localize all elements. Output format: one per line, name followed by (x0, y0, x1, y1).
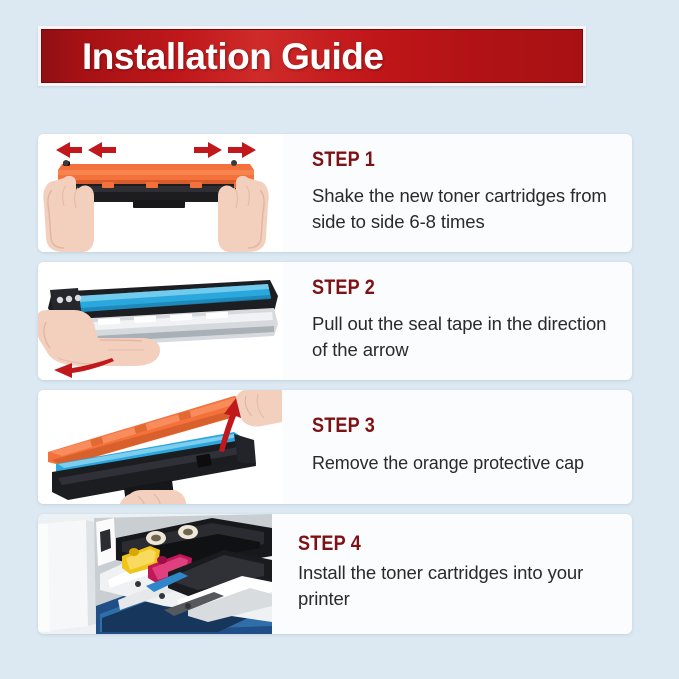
step-card-3: STEP 3 Remove the orange protective cap (38, 390, 632, 504)
left-hand (43, 176, 94, 252)
step-2-figure (38, 262, 282, 380)
step-4-text: Install the toner cartridges into your p… (298, 560, 608, 611)
step-4-label: STEP 4 (298, 532, 570, 555)
steps-list: STEP 1 Shake the new toner cartridges fr… (38, 134, 632, 634)
step-2-text: Pull out the seal tape in the direction … (312, 311, 614, 362)
remove-orange-cap-illustration (38, 390, 282, 504)
step-3-figure (38, 390, 282, 504)
step-3-body: STEP 3 Remove the orange protective cap (282, 390, 632, 504)
step-3-text: Remove the orange protective cap (312, 451, 614, 476)
step-2-body: STEP 2 Pull out the seal tape in the dir… (282, 262, 632, 380)
step-1-body: STEP 1 Shake the new toner cartridges fr… (282, 134, 632, 252)
step-card-2: STEP 2 Pull out the seal tape in the dir… (38, 262, 632, 380)
header-banner-gradient: Installation Guide (41, 29, 583, 83)
step-3-label: STEP 3 (312, 414, 572, 437)
step-1-figure (38, 134, 282, 252)
step-4-figure (38, 514, 272, 634)
printer-interior-illustration (38, 514, 272, 634)
header-banner: Installation Guide (38, 26, 586, 86)
step-1-text: Shake the new toner cartridges from side… (312, 183, 614, 234)
page-title: Installation Guide (42, 38, 383, 75)
right-hand (218, 176, 269, 252)
step-4-body: STEP 4 Install the toner cartridges into… (272, 514, 632, 634)
step-2-label: STEP 2 (312, 276, 572, 299)
shake-toner-cartridge-illustration (38, 134, 282, 252)
pull-seal-tape-illustration (38, 262, 282, 380)
step-card-1: STEP 1 Shake the new toner cartridges fr… (38, 134, 632, 252)
step-1-label: STEP 1 (312, 148, 572, 171)
installation-guide-page: Installation Guide (0, 0, 679, 679)
step-card-4: STEP 4 Install the toner cartridges into… (38, 514, 632, 634)
